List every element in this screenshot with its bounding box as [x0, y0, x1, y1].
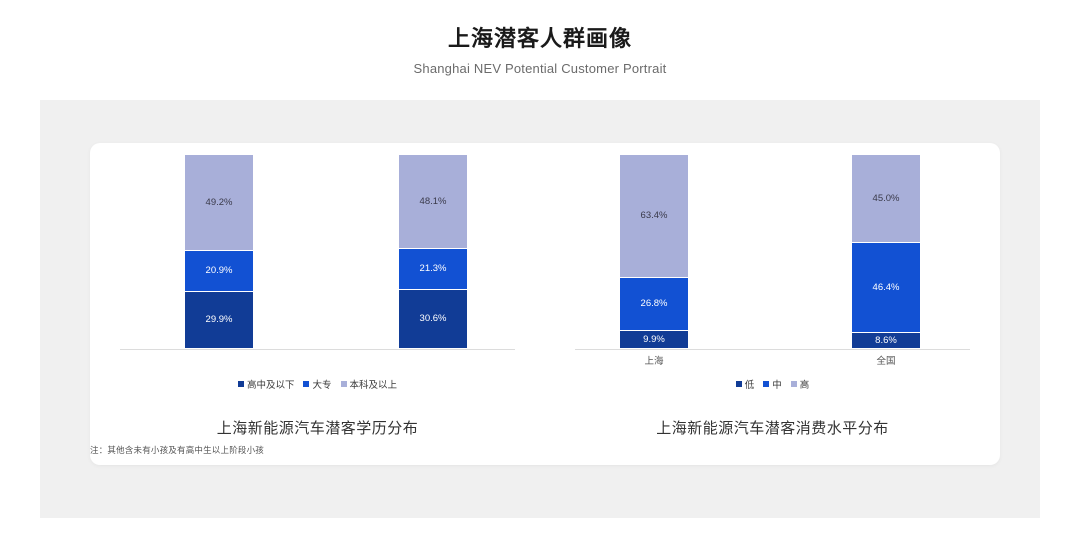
plot-area-education: 49.2% 20.9% 29.9% 48.1% 21.3% 30.6% [106, 155, 529, 350]
bar-segment-high: 63.4% [619, 154, 689, 278]
legend-swatch-high-icon [791, 381, 797, 387]
legend-item[interactable]: 低 [736, 377, 755, 391]
bar-segment-high: 49.2% [184, 154, 254, 250]
charts-container: 49.2% 20.9% 29.9% 48.1% 21.3% 30.6% 高中及以… [90, 143, 1000, 465]
legend-swatch-high-icon [341, 381, 347, 387]
page-root: 上海潜客人群画像 Shanghai NEV Potential Customer… [0, 0, 1080, 547]
bar-segment-low: 9.9% [619, 330, 689, 349]
legend-consumption: 低 中 高 [561, 377, 984, 391]
chart-caption: 上海新能源汽车潜客学历分布 [106, 417, 529, 438]
bar-segment-high: 45.0% [851, 154, 921, 242]
footnote: 注：其他含未有小孩及有高中生以上阶段小孩 [90, 444, 264, 456]
page-title: 上海潜客人群画像 [0, 24, 1080, 54]
legend-label: 高 [800, 377, 810, 391]
stacked-bar[interactable]: 48.1% 21.3% 30.6% [398, 154, 468, 349]
legend-item[interactable]: 高 [791, 377, 810, 391]
legend-label: 中 [772, 377, 782, 391]
stacked-bar[interactable]: 63.4% 26.8% 9.9% [619, 154, 689, 349]
page-subtitle: Shanghai NEV Potential Customer Portrait [0, 61, 1080, 76]
legend-item[interactable]: 本科及以上 [341, 377, 398, 391]
legend-swatch-mid-icon [763, 381, 769, 387]
category-label: 全国 [851, 353, 921, 367]
chart-card: 49.2% 20.9% 29.9% 48.1% 21.3% 30.6% 高中及以… [90, 143, 1000, 465]
category-axis-education [106, 353, 529, 371]
bar-segment-mid: 46.4% [851, 242, 921, 332]
chart-consumption: 63.4% 26.8% 9.9% 45.0% 46.4% 8.6% 上海 全国 [545, 143, 1000, 465]
bar-segment-mid: 26.8% [619, 277, 689, 329]
legend-item[interactable]: 高中及以下 [238, 377, 295, 391]
stacked-bar[interactable]: 45.0% 46.4% 8.6% [851, 154, 921, 349]
bar-segment-low: 8.6% [851, 332, 921, 349]
legend-label: 本科及以上 [350, 377, 398, 391]
chart-education: 49.2% 20.9% 29.9% 48.1% 21.3% 30.6% 高中及以… [90, 143, 545, 465]
category-label: 上海 [619, 353, 689, 367]
bar-segment-low: 29.9% [184, 291, 254, 349]
x-axis-line [575, 349, 970, 350]
bar-segment-mid: 21.3% [398, 248, 468, 290]
stacked-bar[interactable]: 49.2% 20.9% 29.9% [184, 154, 254, 349]
page-header: 上海潜客人群画像 Shanghai NEV Potential Customer… [0, 0, 1080, 76]
legend-swatch-mid-icon [303, 381, 309, 387]
plot-area-consumption: 63.4% 26.8% 9.9% 45.0% 46.4% 8.6% [561, 155, 984, 350]
x-axis-line [120, 349, 515, 350]
legend-label: 低 [745, 377, 755, 391]
legend-item[interactable]: 大专 [303, 377, 331, 391]
legend-education: 高中及以下 大专 本科及以上 [106, 377, 529, 391]
bar-segment-high: 48.1% [398, 154, 468, 248]
legend-label: 高中及以下 [247, 377, 295, 391]
legend-swatch-low-icon [238, 381, 244, 387]
legend-swatch-low-icon [736, 381, 742, 387]
legend-label: 大专 [312, 377, 331, 391]
chart-caption: 上海新能源汽车潜客消费水平分布 [561, 417, 984, 438]
bar-segment-mid: 20.9% [184, 250, 254, 291]
category-axis-consumption: 上海 全国 [561, 353, 984, 371]
bar-segment-low: 30.6% [398, 289, 468, 349]
legend-item[interactable]: 中 [763, 377, 782, 391]
